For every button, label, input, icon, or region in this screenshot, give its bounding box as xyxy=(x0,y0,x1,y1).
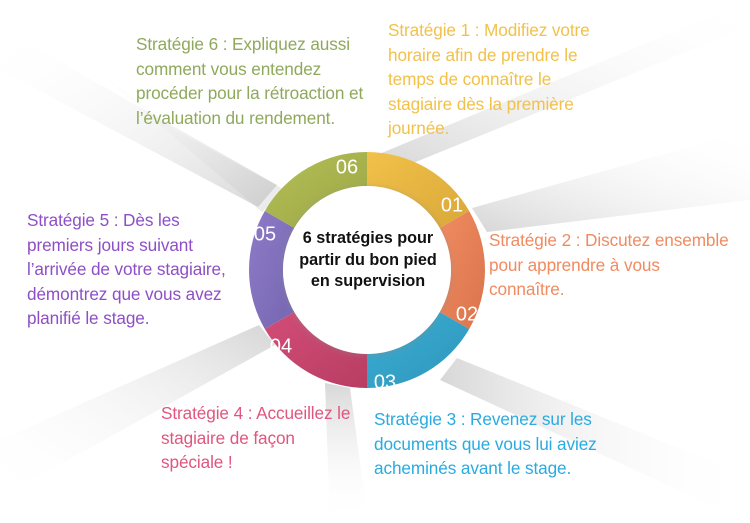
segment-number-06: 06 xyxy=(336,156,358,178)
callout-strategy-4: Stratégie 4 : Accueillez le stagiaire de… xyxy=(161,401,361,475)
segment-number-01: 01 xyxy=(441,194,463,216)
center-title: 6 stratégies pour partir du bon pied en … xyxy=(281,228,455,293)
callout-strategy-3: Stratégie 3 : Revenez sur les documents … xyxy=(374,407,618,481)
segment-number-05: 05 xyxy=(254,223,276,245)
segment-number-02: 02 xyxy=(456,303,478,325)
callout-strategy-6: Stratégie 6 : Expliquez aussi comment vo… xyxy=(136,32,370,130)
callout-strategy-2: Stratégie 2 : Discutez ensemble pour app… xyxy=(489,228,729,302)
callout-strategy-1: Stratégie 1 : Modifiez votre horaire afi… xyxy=(388,18,616,141)
ribbon-to-callout-2 xyxy=(472,130,750,232)
segment-number-03: 03 xyxy=(374,371,396,393)
infographic-root: 010203040506 6 stratégies pour partir du… xyxy=(0,0,750,523)
callout-strategy-5: Stratégie 5 : Dès les premiers jours sui… xyxy=(27,208,245,331)
segment-number-04: 04 xyxy=(270,335,292,357)
